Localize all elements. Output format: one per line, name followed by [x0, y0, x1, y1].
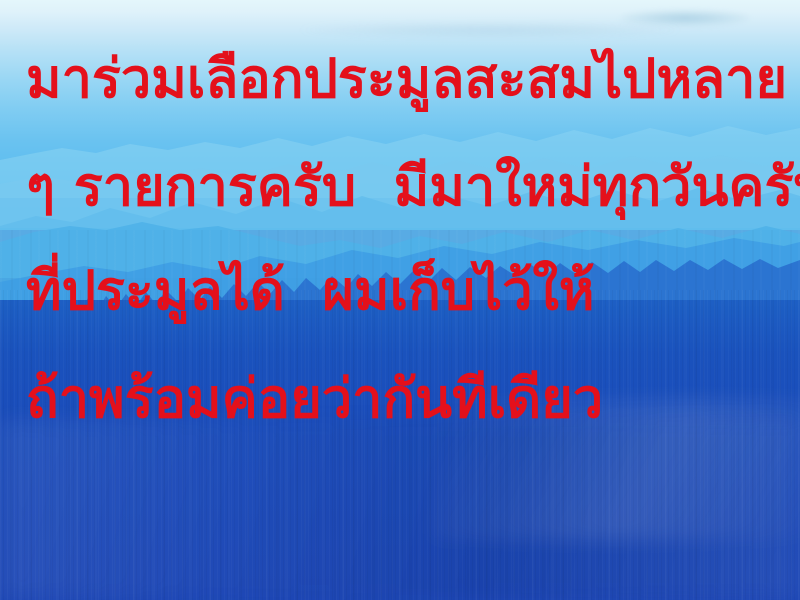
- overlay-line-3: ที่ประมูลได้ ผมเก็บไว้ให้: [26, 264, 595, 318]
- overlay-line-1: มาร่วมเลือกประมูลสะสมไปหลาย: [26, 52, 787, 106]
- overlay-line-4: ถ้าพร้อมค่อยว่ากันทีเดียว: [26, 372, 603, 426]
- banner-image: มาร่วมเลือกประมูลสะสมไปหลาย ๆ รายการครับ…: [0, 0, 800, 600]
- text-overlay: มาร่วมเลือกประมูลสะสมไปหลาย ๆ รายการครับ…: [0, 0, 800, 600]
- overlay-line-2: ๆ รายการครับ มีมาใหม่ทุกวันครับ: [26, 160, 800, 214]
